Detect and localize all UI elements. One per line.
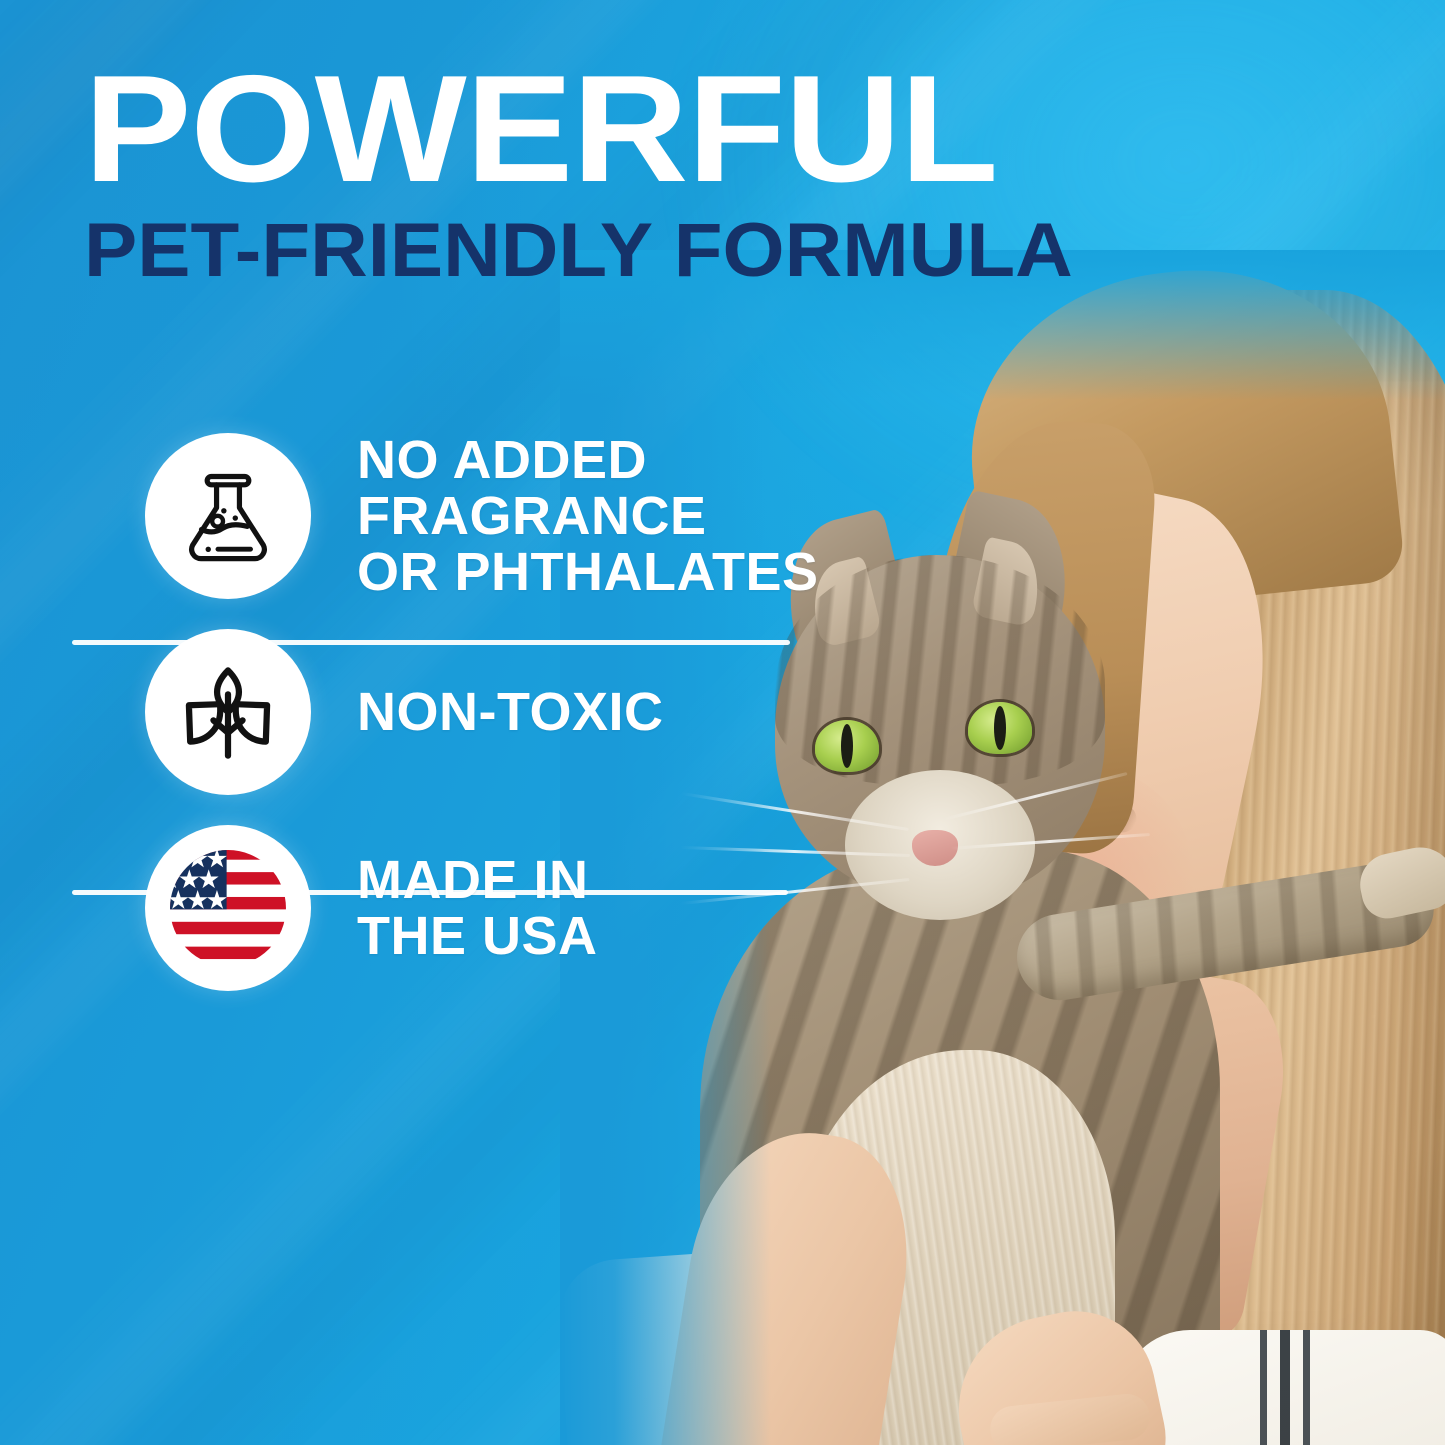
feature-label: NON-TOXIC — [357, 684, 664, 740]
cat-pupil-right — [994, 706, 1006, 750]
feature-label: MADE IN THE USA — [357, 852, 598, 964]
feature-badge — [145, 629, 311, 795]
headline-secondary: PET-FRIENDLY FORMULA — [84, 215, 1260, 288]
feature-list: NO ADDED FRAGRANCE OR PHTHALATES — [0, 418, 830, 1006]
feature-label-line: NON-TOXIC — [357, 684, 664, 740]
feature-label-line: MADE IN — [357, 852, 598, 908]
headline-block: POWERFUL PET-FRIENDLY FORMULA — [84, 58, 1204, 288]
feature-row-no-added-fragrance: NO ADDED FRAGRANCE OR PHTHALATES — [0, 418, 830, 614]
feature-label-line: FRAGRANCE — [357, 488, 819, 544]
leaf-plant-icon — [176, 660, 280, 764]
feature-badge — [145, 433, 311, 599]
feature-label-line: NO ADDED — [357, 432, 819, 488]
feature-label: NO ADDED FRAGRANCE OR PHTHALATES — [357, 432, 819, 600]
feature-badge — [145, 825, 311, 991]
flask-icon — [176, 464, 280, 568]
feature-row-made-in-usa: MADE IN THE USA — [0, 810, 830, 1006]
cat-pupil-left — [841, 724, 853, 768]
product-feature-poster: POWERFUL PET-FRIENDLY FORMULA — [0, 0, 1445, 1445]
feature-label-line: OR PHTHALATES — [357, 544, 819, 600]
shirt-plaid-vertical — [1250, 1330, 1360, 1445]
headline-primary: POWERFUL — [84, 58, 1271, 201]
usa-flag-icon — [159, 839, 297, 977]
feature-row-non-toxic: NON-TOXIC — [0, 614, 830, 810]
feature-label-line: THE USA — [357, 908, 598, 964]
